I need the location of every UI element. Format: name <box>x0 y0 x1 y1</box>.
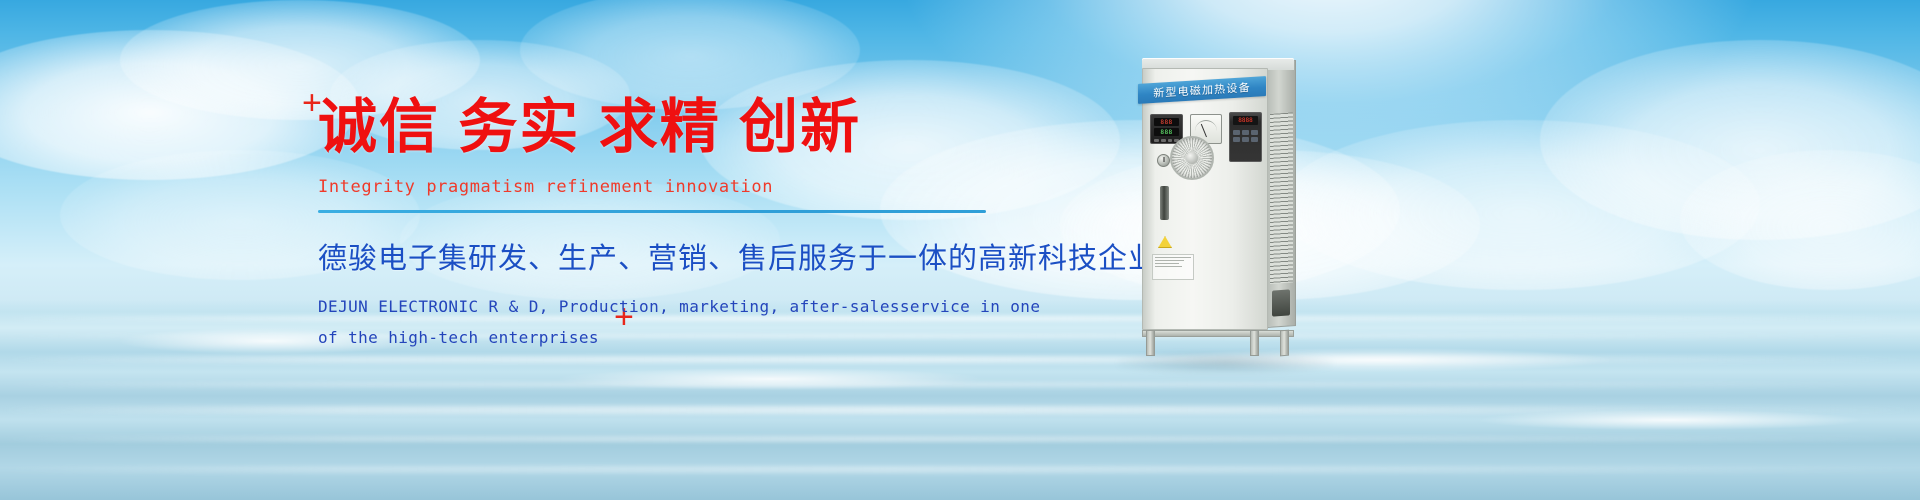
inverter-keys[interactable] <box>1233 130 1258 142</box>
product-machine: 新型电磁加热设备 888 888 8888 <box>1128 58 1318 358</box>
hero-banner: + + 诚信 务实 求精 创新 Integrity pragmatism ref… <box>0 0 1920 500</box>
machine-outlet <box>1272 289 1290 316</box>
door-handle[interactable] <box>1160 186 1169 220</box>
meter-button[interactable] <box>1161 139 1166 142</box>
keypad-key[interactable] <box>1242 137 1249 142</box>
meter-button[interactable] <box>1168 139 1173 142</box>
machine-leg <box>1280 330 1289 357</box>
banner-copy: 诚信 务实 求精 创新 Integrity pragmatism refinem… <box>318 96 1018 353</box>
digital-meter-display-bottom: 888 <box>1154 128 1179 136</box>
wave-line <box>0 436 1920 442</box>
machine-vents <box>1270 112 1293 284</box>
wave-line <box>0 466 1920 473</box>
subheadline-english-line1: DEJUN ELECTRONIC R & D, Production, mark… <box>318 291 1018 322</box>
water-glint <box>1480 410 1860 430</box>
headline-english: Integrity pragmatism refinement innovati… <box>318 177 1018 197</box>
knob-pointer <box>1163 157 1164 162</box>
spec-line <box>1155 263 1179 264</box>
spec-line <box>1155 266 1182 267</box>
cooling-fan <box>1170 136 1214 180</box>
subheadline-english-line2: of the high-tech enterprises <box>318 322 1018 353</box>
meter-button[interactable] <box>1154 139 1159 142</box>
keypad-key[interactable] <box>1233 137 1240 142</box>
keypad-key[interactable] <box>1251 130 1258 135</box>
keypad-key[interactable] <box>1242 130 1249 135</box>
spec-line <box>1155 257 1191 258</box>
gauge-arc <box>1195 120 1217 131</box>
machine-brand-label-text: 新型电磁加热设备 <box>1153 79 1251 101</box>
inverter-keypad[interactable]: 8888 <box>1229 112 1262 162</box>
headline-chinese: 诚信 务实 求精 创新 <box>318 96 1018 160</box>
spec-plate <box>1152 254 1194 280</box>
keypad-key[interactable] <box>1251 137 1258 142</box>
divider-rule <box>318 210 986 213</box>
base-bar <box>1142 330 1294 337</box>
machine-base <box>1142 330 1302 360</box>
inverter-display: 8888 <box>1233 116 1258 125</box>
spec-line <box>1155 260 1184 261</box>
machine-leg <box>1146 330 1155 356</box>
water-glint <box>560 368 980 390</box>
machine-leg <box>1250 330 1259 356</box>
digital-meter-display-top: 888 <box>1154 118 1179 126</box>
digital-meter-buttons[interactable] <box>1154 139 1179 142</box>
subheadline-chinese: 德骏电子集研发、生产、营销、售后服务于一体的高新科技企业 <box>318 235 1018 277</box>
wave-line <box>0 356 1920 363</box>
keypad-key[interactable] <box>1233 130 1240 135</box>
control-knob-left[interactable] <box>1157 154 1170 167</box>
